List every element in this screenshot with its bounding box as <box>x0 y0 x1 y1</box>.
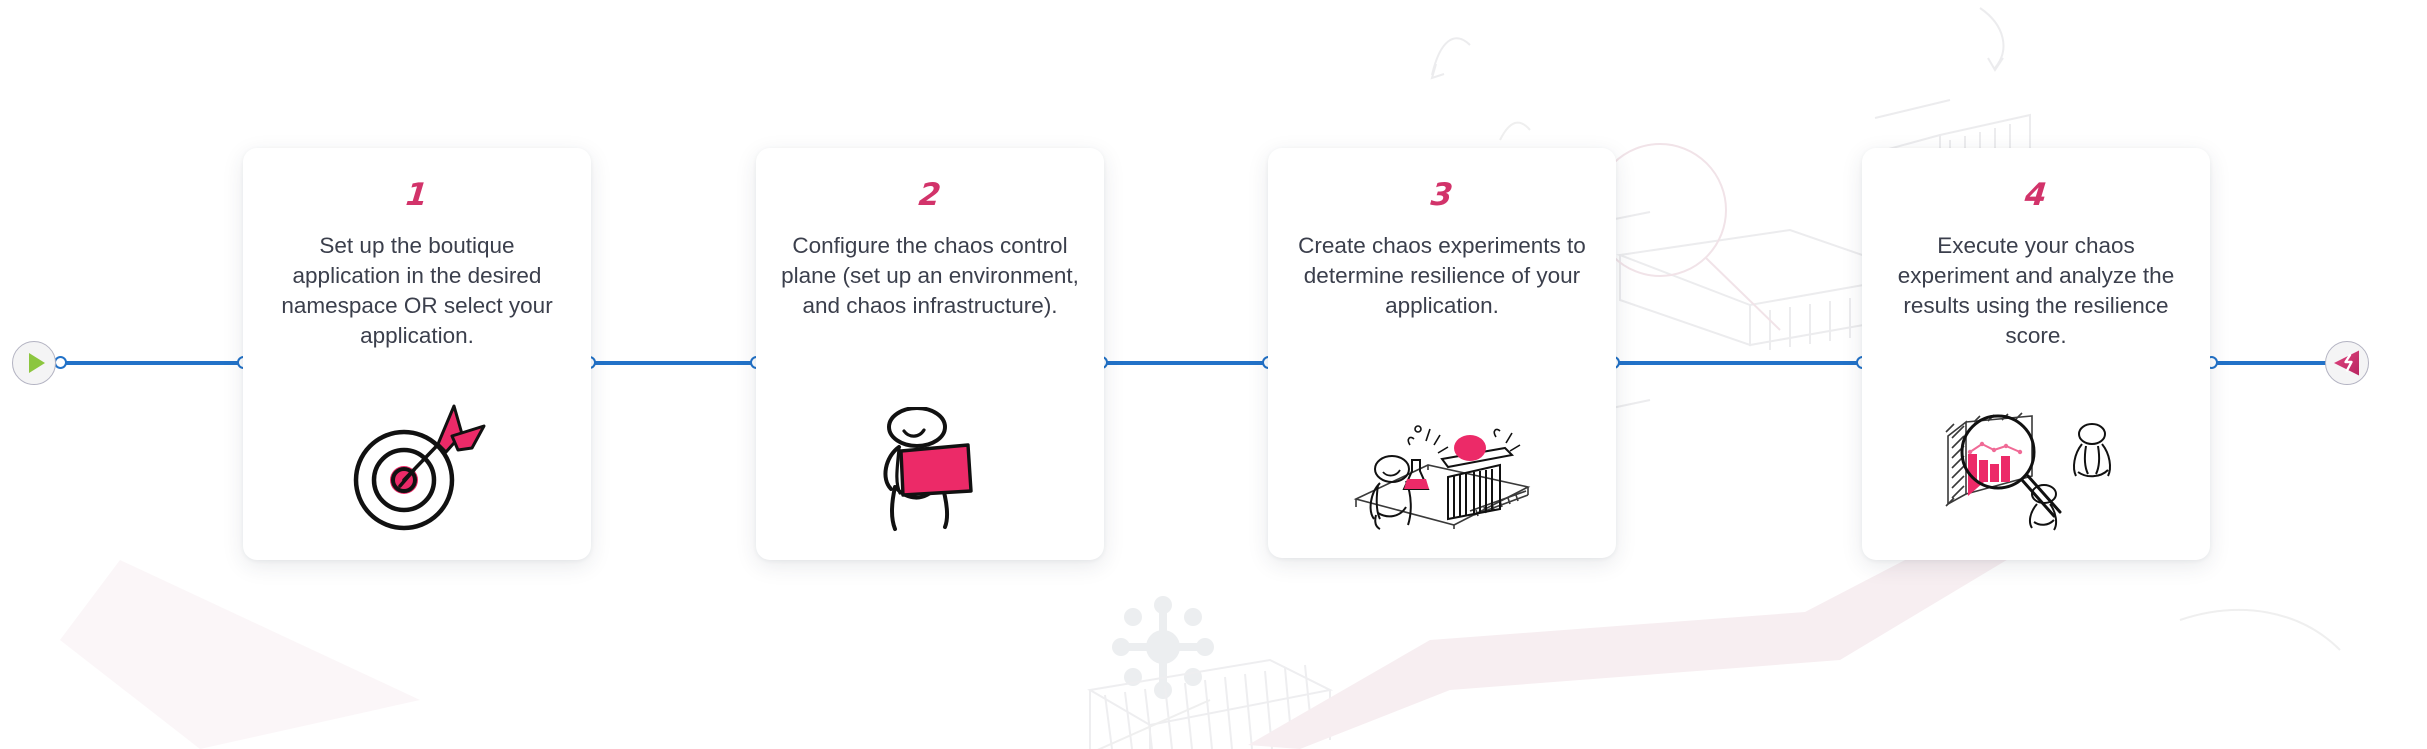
sketch-platform-2 <box>1090 660 1330 749</box>
connector-segment-4-end <box>2210 361 2330 365</box>
litmus-logo-icon <box>2332 349 2362 377</box>
workflow-diagram: 1 Set up the boutique application in the… <box>0 0 2427 749</box>
step-number-4: 4 <box>2023 180 2048 211</box>
magnifier-chart-analysis-illustration <box>1944 412 2129 532</box>
sketch-gear-sunburst <box>1112 596 1214 699</box>
step-text-4: Execute your chaos experiment and analyz… <box>1862 231 2210 351</box>
step-number-3: 3 <box>1429 180 1454 211</box>
start-marker[interactable] <box>12 341 56 385</box>
target-with-arrow-illustration <box>342 400 492 532</box>
step-card-1[interactable]: 1 Set up the boutique application in the… <box>243 148 591 560</box>
play-icon <box>29 353 45 373</box>
step-card-4[interactable]: 4 Execute your chaos experiment and anal… <box>1862 148 2210 560</box>
end-marker[interactable] <box>2325 341 2369 385</box>
person-holding-board-illustration <box>865 407 995 532</box>
connector-segment-2-3 <box>1100 361 1270 365</box>
step-number-2: 2 <box>917 180 942 211</box>
connector-segment-1-2 <box>588 361 758 365</box>
step-number-1: 1 <box>404 180 429 211</box>
step-card-3[interactable]: 3 Create chaos experiments to determine … <box>1268 148 1616 558</box>
pink-ribbon-banner-2 <box>60 560 420 749</box>
step-card-2[interactable]: 2 Configure the chaos control plane (set… <box>756 148 1104 560</box>
step-text-2: Configure the chaos control plane (set u… <box>756 231 1104 321</box>
connector-segment-start-1 <box>56 361 246 365</box>
scientist-flask-experiment-illustration <box>1350 415 1535 530</box>
sketch-arrow-curve <box>1432 8 2003 78</box>
step-text-1: Set up the boutique application in the d… <box>243 231 591 351</box>
connector-segment-3-4 <box>1612 361 1864 365</box>
step-text-3: Create chaos experiments to determine re… <box>1268 231 1616 321</box>
sketch-magnifier <box>1594 144 1780 330</box>
